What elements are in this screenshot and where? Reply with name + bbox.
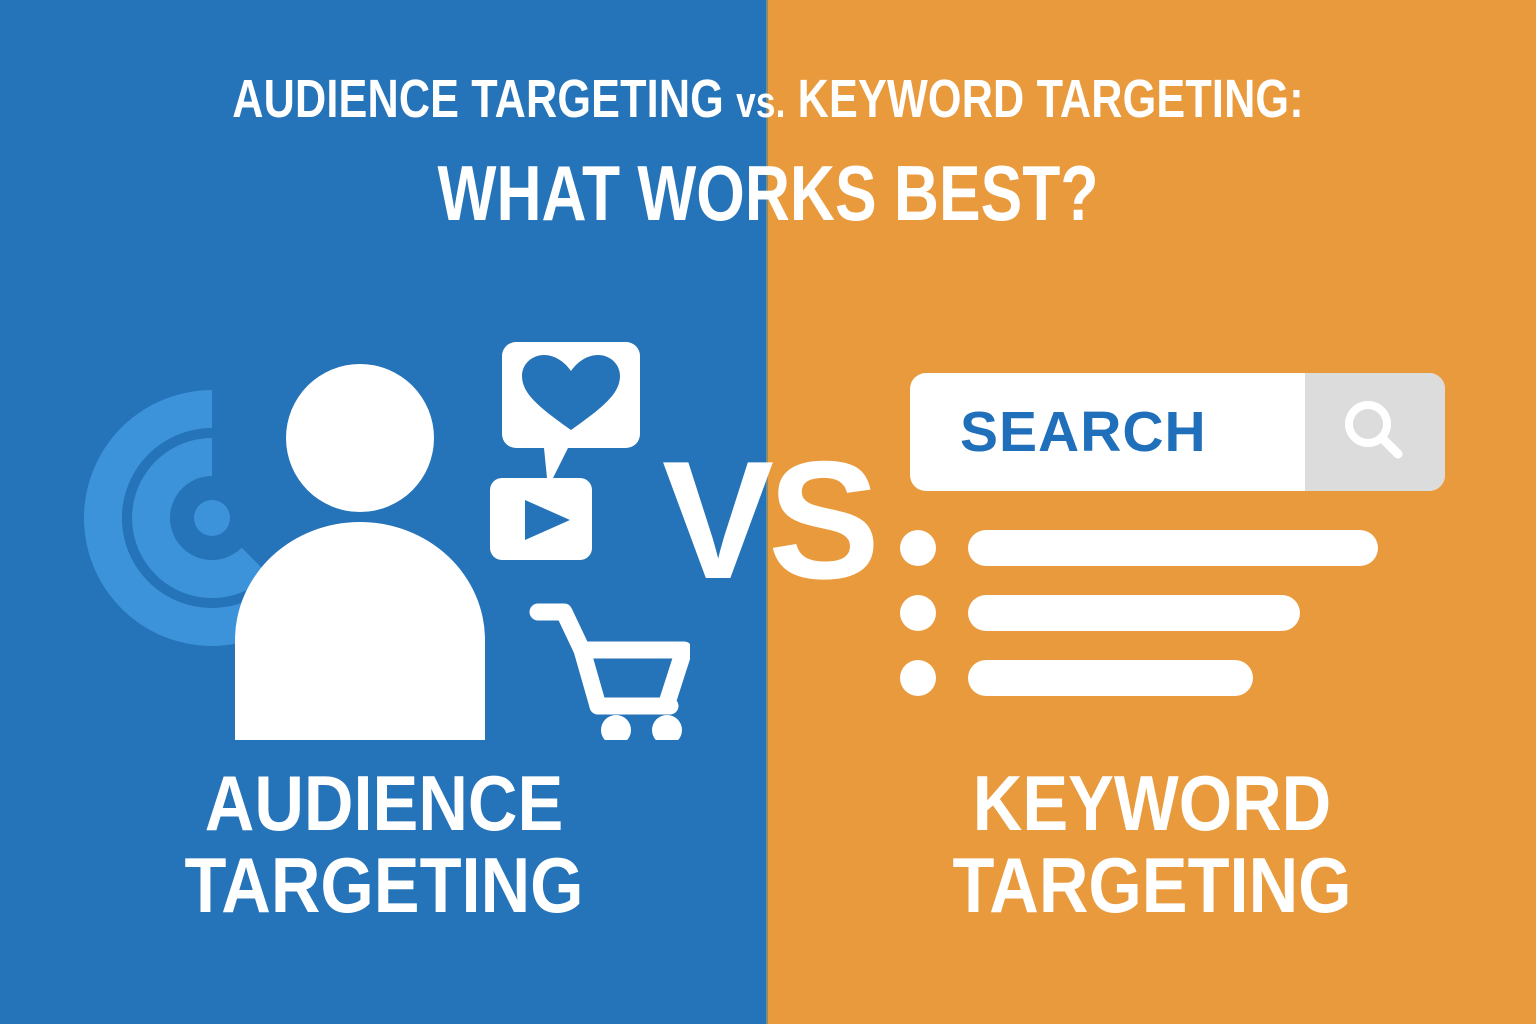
left-label-line-1: AUDIENCE bbox=[46, 762, 722, 844]
search-results-list bbox=[900, 530, 1460, 725]
list-bullet-icon bbox=[900, 595, 936, 631]
list-item[interactable] bbox=[900, 660, 1460, 696]
heart-speech-bubble-icon bbox=[502, 342, 640, 488]
shopping-cart-icon bbox=[538, 612, 684, 706]
shopping-cart-wheels bbox=[601, 715, 682, 740]
list-item-bar bbox=[968, 530, 1378, 566]
list-item-bar bbox=[968, 595, 1300, 631]
right-panel-label: KEYWORD TARGETING bbox=[768, 762, 1536, 926]
list-bullet-icon bbox=[900, 530, 936, 566]
left-label-line-2: TARGETING bbox=[46, 844, 722, 926]
right-label-line-1: KEYWORD bbox=[814, 762, 1490, 844]
list-item[interactable] bbox=[900, 530, 1460, 566]
search-input[interactable]: SEARCH bbox=[960, 404, 1207, 461]
person-user-icon bbox=[235, 364, 485, 740]
right-label-line-2: TARGETING bbox=[814, 844, 1490, 926]
video-play-icon bbox=[490, 478, 592, 560]
keyword-targeting-illustration: SEARCH bbox=[890, 360, 1470, 720]
list-item[interactable] bbox=[900, 595, 1460, 631]
list-bullet-icon bbox=[900, 660, 936, 696]
audience-targeting-illustration bbox=[70, 320, 690, 740]
search-bar[interactable]: SEARCH bbox=[910, 373, 1445, 491]
versus-label: VS bbox=[662, 436, 874, 604]
list-item-bar bbox=[968, 660, 1253, 696]
search-button[interactable] bbox=[1305, 373, 1445, 491]
infographic-canvas: AUDIENCE TARGETING vs. KEYWORD TARGETING… bbox=[0, 0, 1536, 1024]
magnifier-search-icon bbox=[1338, 395, 1412, 469]
left-panel-label: AUDIENCE TARGETING bbox=[0, 762, 768, 926]
